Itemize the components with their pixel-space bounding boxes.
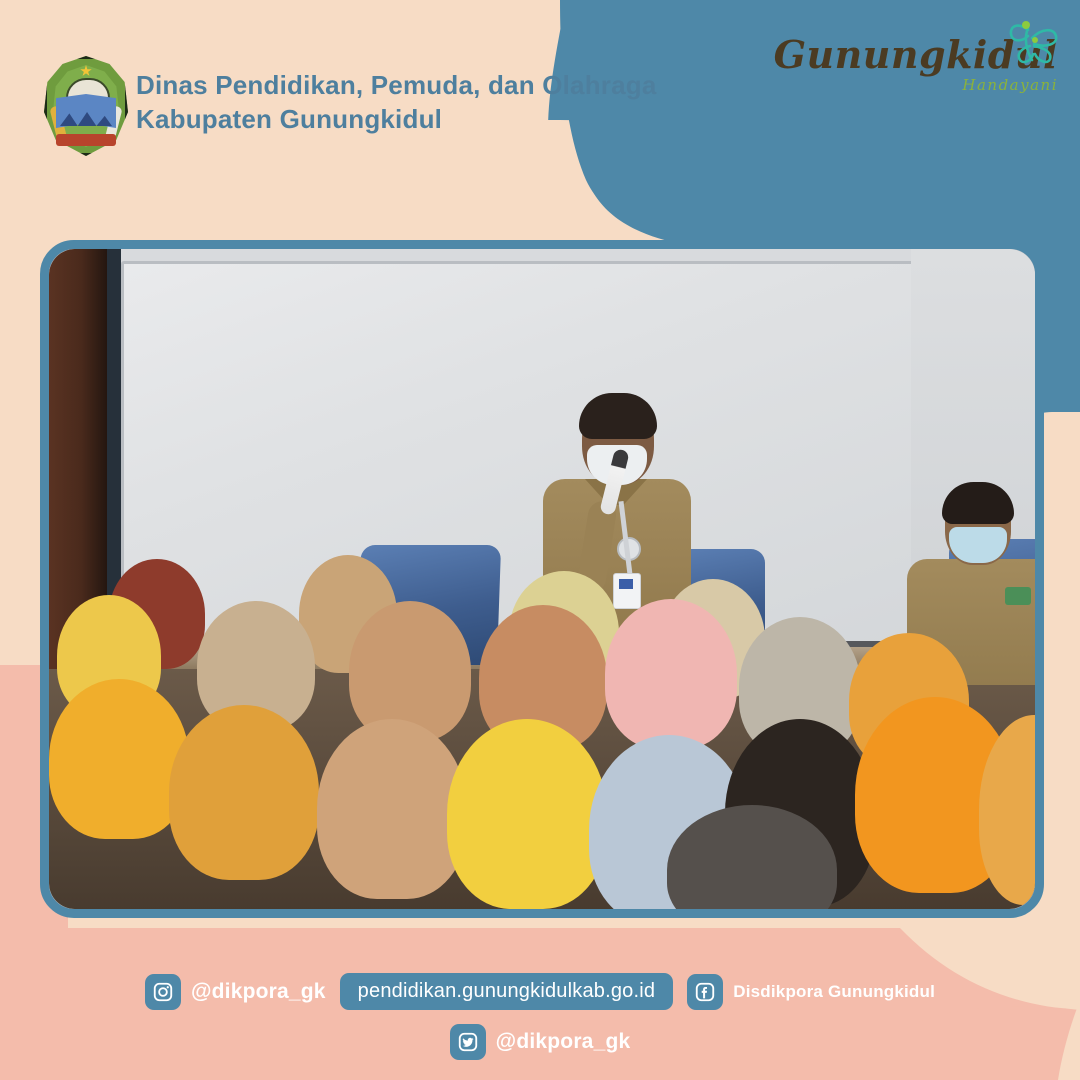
photo-audience-member bbox=[349, 601, 471, 741]
instagram-item[interactable]: @dikpora_gk bbox=[145, 974, 326, 1010]
instagram-icon[interactable] bbox=[145, 974, 181, 1010]
instagram-handle: @dikpora_gk bbox=[191, 980, 326, 1004]
id-badge bbox=[613, 573, 641, 609]
photo-audience-member bbox=[49, 679, 189, 839]
event-photo-frame bbox=[40, 240, 1044, 918]
event-photo bbox=[49, 249, 1035, 909]
organization-title-line2: Kabupaten Gunungkidul bbox=[136, 102, 657, 136]
facebook-icon[interactable] bbox=[687, 974, 723, 1010]
social-footer: @dikpora_gk pendidikan.gunungkidulkab.go… bbox=[0, 973, 1080, 1060]
website-url-pill[interactable]: pendidikan.gunungkidulkab.go.id bbox=[340, 973, 674, 1010]
photo-audience-member bbox=[447, 719, 607, 909]
twitter-item[interactable]: @dikpora_gk bbox=[450, 1024, 631, 1060]
dragonfly-icon bbox=[1002, 16, 1064, 70]
twitter-icon[interactable] bbox=[450, 1024, 486, 1060]
organization-title-line1: Dinas Pendidikan, Pemuda, dan Olahraga bbox=[136, 68, 657, 102]
photo-audience-member bbox=[317, 719, 467, 899]
photo-audience-member bbox=[169, 705, 319, 880]
facebook-item[interactable]: Disdikpora Gunungkidul bbox=[687, 974, 935, 1010]
facebook-page-name: Disdikpora Gunungkidul bbox=[733, 982, 935, 1002]
gunungkidul-brand-logo: Gunungkidul Handayani bbox=[774, 36, 1058, 94]
gunungkidul-regency-crest-icon bbox=[44, 56, 128, 156]
twitter-handle: @dikpora_gk bbox=[496, 1030, 631, 1054]
photo-audience-member bbox=[605, 599, 737, 749]
brand-tagline: Handayani bbox=[774, 76, 1058, 94]
poster-canvas: Dinas Pendidikan, Pemuda, dan Olahraga K… bbox=[0, 0, 1080, 1080]
organization-title: Dinas Pendidikan, Pemuda, dan Olahraga K… bbox=[136, 68, 657, 137]
